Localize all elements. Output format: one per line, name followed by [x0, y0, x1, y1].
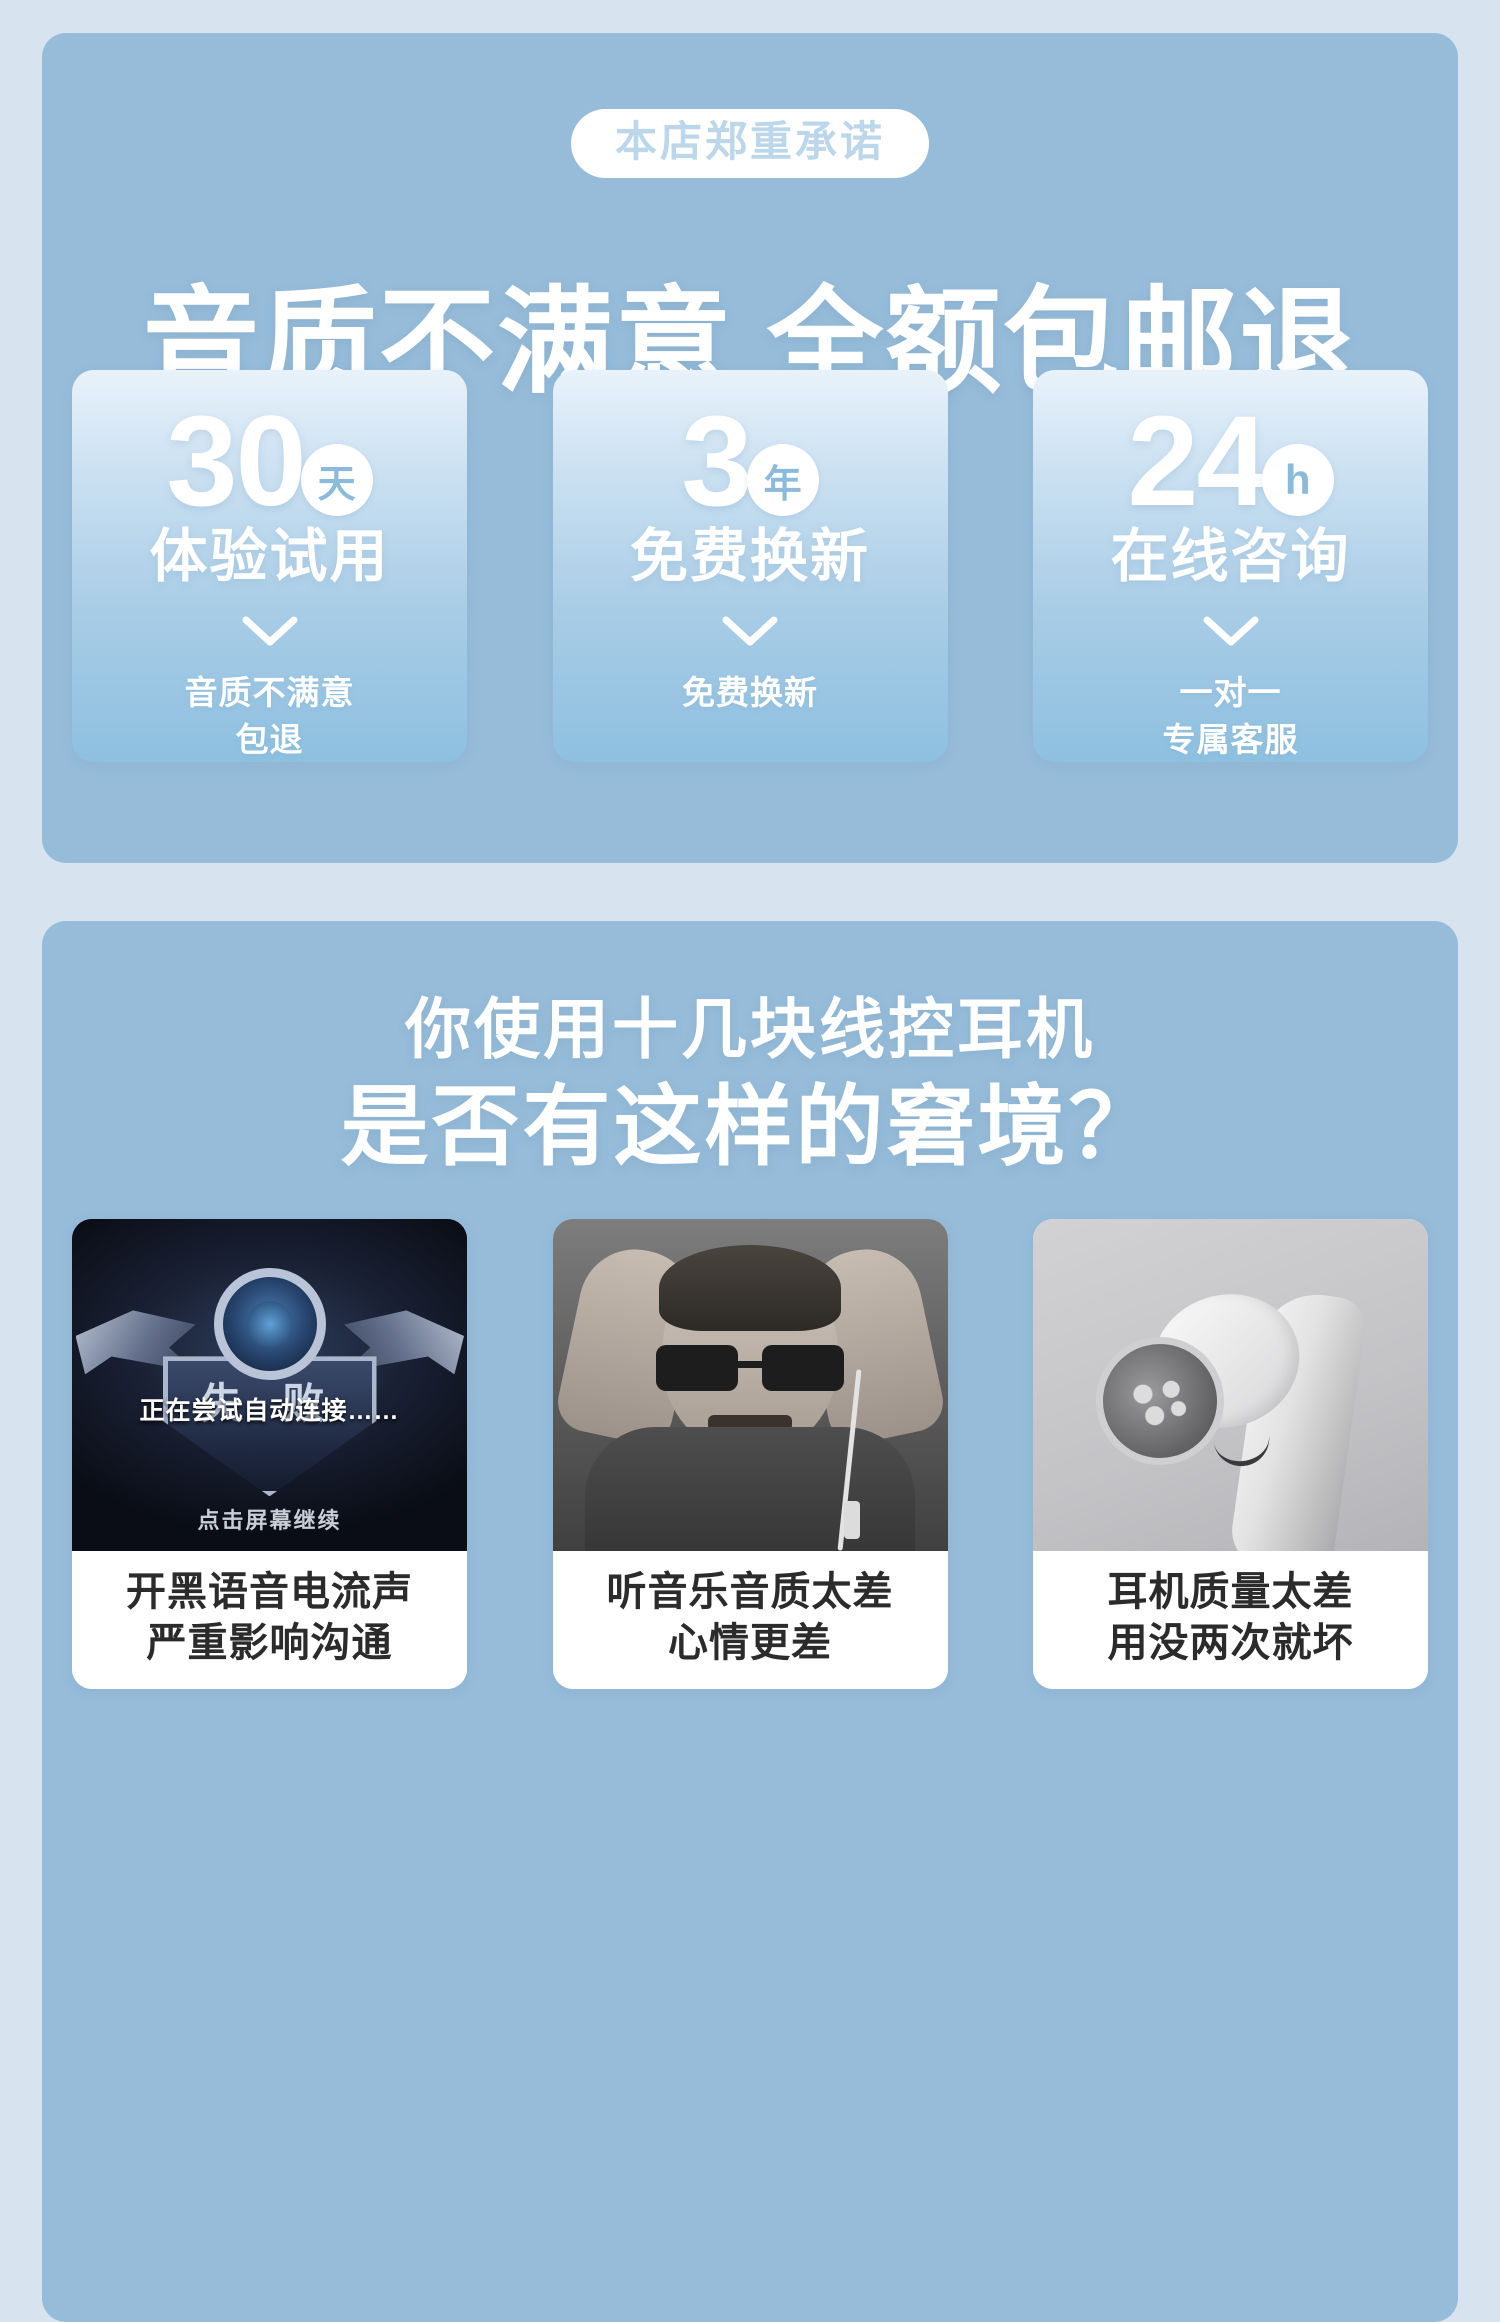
promise-card-subtext-line2: 专属客服	[1033, 717, 1428, 764]
problem-card-poor-sound[interactable]: 听音乐音质太差 心情更差	[553, 1219, 948, 1689]
promise-card-list: 30 天 体验试用 音质不满意 包退 3 年 免费换新	[72, 370, 1428, 762]
promise-card-subtext-line1: 音质不满意	[72, 670, 467, 717]
promise-card-subtext-line2: 包退	[72, 717, 467, 764]
man-hair	[659, 1245, 841, 1331]
promise-card-title: 体验试用	[72, 528, 467, 586]
chevron-down-icon	[553, 615, 948, 649]
problem-section: 你使用十几块线控耳机 是否有这样的窘境？ 失 败 正在尝试自动连接…… 点击屏幕…	[42, 921, 1458, 2322]
sunglasses-icon	[656, 1345, 844, 1391]
problem-caption-line2: 用没两次就坏	[1039, 1618, 1422, 1669]
problem-card-caption: 耳机质量太差 用没两次就坏	[1033, 1551, 1428, 1689]
problem-card-voice-noise[interactable]: 失 败 正在尝试自动连接…… 点击屏幕继续 开黑语音电流声 严重影响沟通	[72, 1219, 467, 1689]
promise-card-unit-badge: 天	[301, 444, 373, 516]
promise-card-subtext: 音质不满意 包退	[72, 670, 467, 764]
promise-section: 本店郑重承诺 音质不满意全额包邮退 30 天 体验试用 音质不满意 包退	[42, 33, 1458, 863]
promise-card-title: 在线咨询	[1033, 528, 1428, 586]
promise-card-number: 30	[166, 398, 304, 526]
emblem-ring	[214, 1268, 326, 1380]
promise-card-title: 免费换新	[553, 528, 948, 586]
promise-card-trial[interactable]: 30 天 体验试用 音质不满意 包退	[72, 370, 467, 762]
problem-caption-line2: 心情更差	[559, 1618, 942, 1669]
man-torso	[585, 1427, 915, 1551]
promise-badge-wrap: 本店郑重承诺	[42, 109, 1458, 178]
promise-card-subtext: 免费换新	[553, 670, 948, 717]
chevron-down-icon	[72, 615, 467, 649]
problem-card-list: 失 败 正在尝试自动连接…… 点击屏幕继续 开黑语音电流声 严重影响沟通	[72, 1219, 1428, 1689]
promise-card-unit-badge: 年	[747, 444, 819, 516]
problem-caption-line1: 听音乐音质太差	[559, 1567, 942, 1618]
problem-card-caption: 开黑语音电流声 严重影响沟通	[72, 1551, 467, 1689]
problem-caption-line2: 严重影响沟通	[78, 1618, 461, 1669]
problem-caption-line1: 开黑语音电流声	[78, 1567, 461, 1618]
problem-main-heading: 是否有这样的窘境？	[42, 1083, 1458, 1171]
promise-card-unit-badge: h	[1262, 444, 1334, 516]
promise-card-support[interactable]: 24 h 在线咨询 一对一 专属客服	[1033, 370, 1428, 762]
promise-card-subtext-line1: 一对一	[1033, 670, 1428, 717]
broken-earbud-photo	[1033, 1219, 1428, 1551]
promise-badge: 本店郑重承诺	[571, 109, 929, 178]
problem-card-poor-quality[interactable]: 耳机质量太差 用没两次就坏	[1033, 1219, 1428, 1689]
earphone-cord-clip	[844, 1501, 860, 1539]
problem-caption-line1: 耳机质量太差	[1039, 1567, 1422, 1618]
promise-card-subtext: 一对一 专属客服	[1033, 670, 1428, 764]
game-emblem: 失 败	[140, 1258, 400, 1498]
promise-card-number-row: 24 h	[1033, 398, 1428, 526]
game-connecting-label: 正在尝试自动连接……	[72, 1391, 467, 1427]
promise-card-exchange[interactable]: 3 年 免费换新 免费换新	[553, 370, 948, 762]
chevron-down-icon	[1033, 615, 1428, 649]
promise-card-number: 3	[681, 398, 750, 526]
problem-card-caption: 听音乐音质太差 心情更差	[553, 1551, 948, 1689]
frustrated-man-photo	[553, 1219, 948, 1551]
promise-card-number-row: 3 年	[553, 398, 948, 526]
promise-card-number-row: 30 天	[72, 398, 467, 526]
promise-card-subtext-line1: 免费换新	[553, 670, 948, 717]
problem-sub-heading: 你使用十几块线控耳机	[42, 996, 1458, 1062]
game-tap-to-continue-label: 点击屏幕继续	[72, 1503, 467, 1535]
game-defeat-screenshot: 失 败 正在尝试自动连接…… 点击屏幕继续	[72, 1219, 467, 1551]
promise-card-number: 24	[1127, 398, 1265, 526]
